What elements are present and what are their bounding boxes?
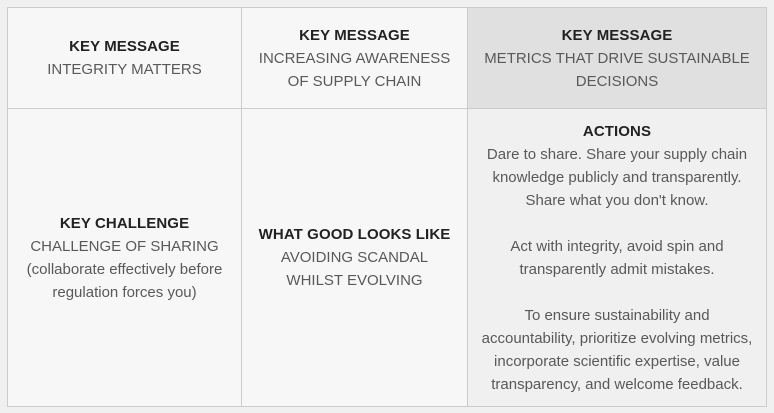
cell-key-message-awareness: KEY MESSAGE INCREASING AWARENESS OF SUPP… — [242, 8, 468, 109]
cell-title-key-challenge: KEY CHALLENGE — [18, 212, 231, 235]
actions-paragraph-2: Act with integrity, avoid spin and trans… — [478, 235, 756, 281]
cell-title-key-message-3: KEY MESSAGE — [478, 24, 756, 47]
cell-key-challenge: KEY CHALLENGE CHALLENGE OF SHARING (coll… — [8, 109, 242, 407]
cell-body-challenge-of-sharing: CHALLENGE OF SHARING (collaborate effect… — [18, 235, 231, 304]
cell-body-avoiding-scandal: AVOIDING SCANDAL WHILST EVOLVING — [252, 246, 457, 292]
cell-body-metrics-sustainable: METRICS THAT DRIVE SUSTAINABLE DECISIONS — [478, 47, 756, 93]
actions-paragraph-spacer-1 — [478, 212, 756, 235]
cell-what-good-looks-like: WHAT GOOD LOOKS LIKE AVOIDING SCANDAL WH… — [242, 109, 468, 407]
cell-actions: ACTIONS Dare to share. Share your supply… — [468, 109, 767, 407]
cell-body-integrity-matters: INTEGRITY MATTERS — [18, 58, 231, 81]
actions-paragraph-1: Dare to share. Share your supply chain k… — [478, 143, 756, 212]
cell-key-message-metrics: KEY MESSAGE METRICS THAT DRIVE SUSTAINAB… — [468, 8, 767, 109]
table-header-row: KEY MESSAGE INTEGRITY MATTERS KEY MESSAG… — [8, 8, 767, 109]
cell-body-increasing-awareness: INCREASING AWARENESS OF SUPPLY CHAIN — [252, 47, 457, 93]
cell-body-actions: Dare to share. Share your supply chain k… — [478, 143, 756, 396]
key-message-matrix-table: KEY MESSAGE INTEGRITY MATTERS KEY MESSAG… — [7, 7, 767, 407]
cell-title-key-message-1: KEY MESSAGE — [18, 35, 231, 58]
cell-key-message-integrity: KEY MESSAGE INTEGRITY MATTERS — [8, 8, 242, 109]
cell-title-what-good-looks-like: WHAT GOOD LOOKS LIKE — [252, 223, 457, 246]
cell-title-actions: ACTIONS — [478, 120, 756, 143]
actions-paragraph-3: To ensure sustainability and accountabil… — [478, 304, 756, 396]
cell-title-key-message-2: KEY MESSAGE — [252, 24, 457, 47]
actions-paragraph-spacer-2 — [478, 281, 756, 304]
table-body-row: KEY CHALLENGE CHALLENGE OF SHARING (coll… — [8, 109, 767, 407]
